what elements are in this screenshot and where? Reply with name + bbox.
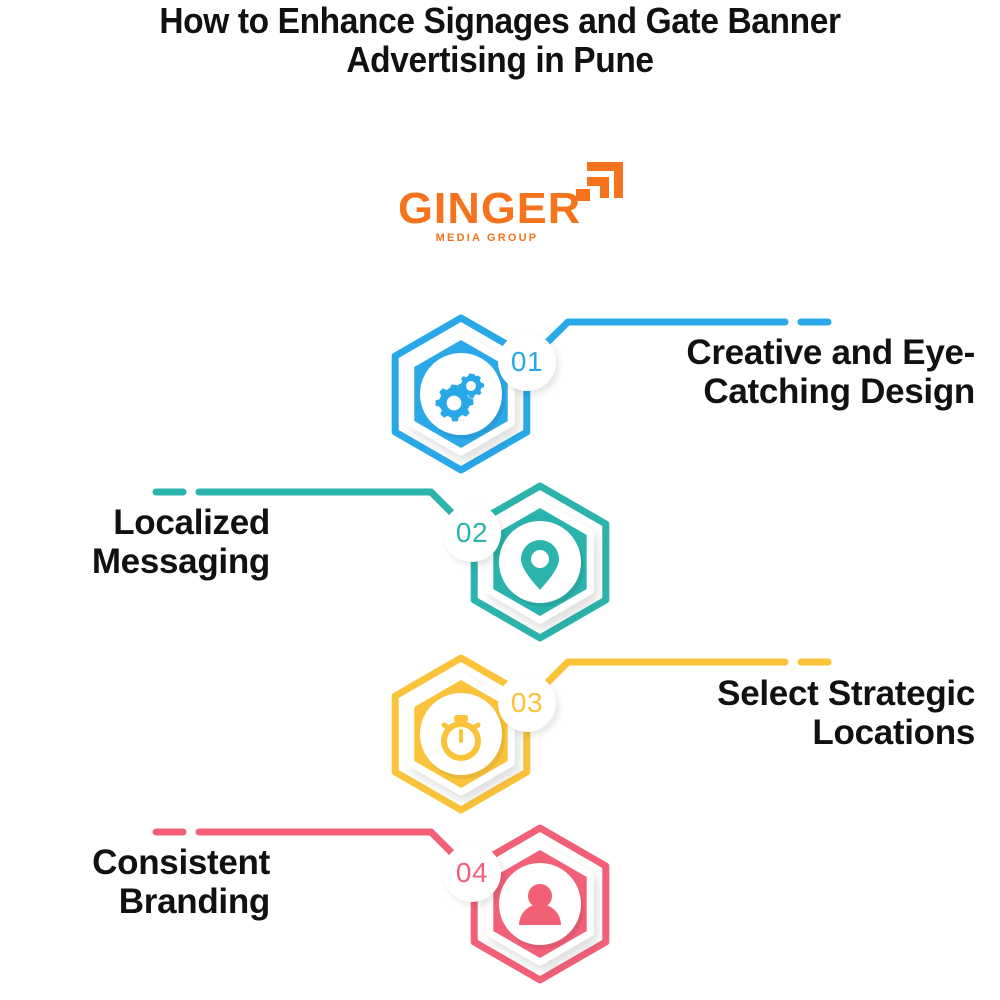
step-label-4: Consistent Branding (20, 843, 270, 921)
step-label-3-line-2: Locations (520, 713, 975, 752)
hexagon-step-4[interactable] (474, 828, 606, 980)
step-label-2-line-2: Messaging (20, 542, 270, 581)
step-number-badge-4[interactable]: 04 (443, 844, 501, 902)
hexagon-step-2[interactable] (474, 486, 606, 638)
step-label-4-line-1: Consistent (20, 843, 270, 882)
step-label-1-line-2: Catching Design (520, 372, 975, 411)
step-label-4-line-2: Branding (20, 882, 270, 921)
step-label-1-line-1: Creative and Eye- (520, 333, 975, 372)
step-label-2: Localized Messaging (20, 503, 270, 581)
step-number-2: 02 (456, 517, 488, 549)
step-label-1: Creative and Eye- Catching Design (520, 333, 975, 411)
step-label-3: Select Strategic Locations (520, 674, 975, 752)
step-number-4: 04 (456, 857, 488, 889)
step-number-badge-2[interactable]: 02 (443, 504, 501, 562)
step-label-3-line-1: Select Strategic (520, 674, 975, 713)
step-label-2-line-1: Localized (20, 503, 270, 542)
